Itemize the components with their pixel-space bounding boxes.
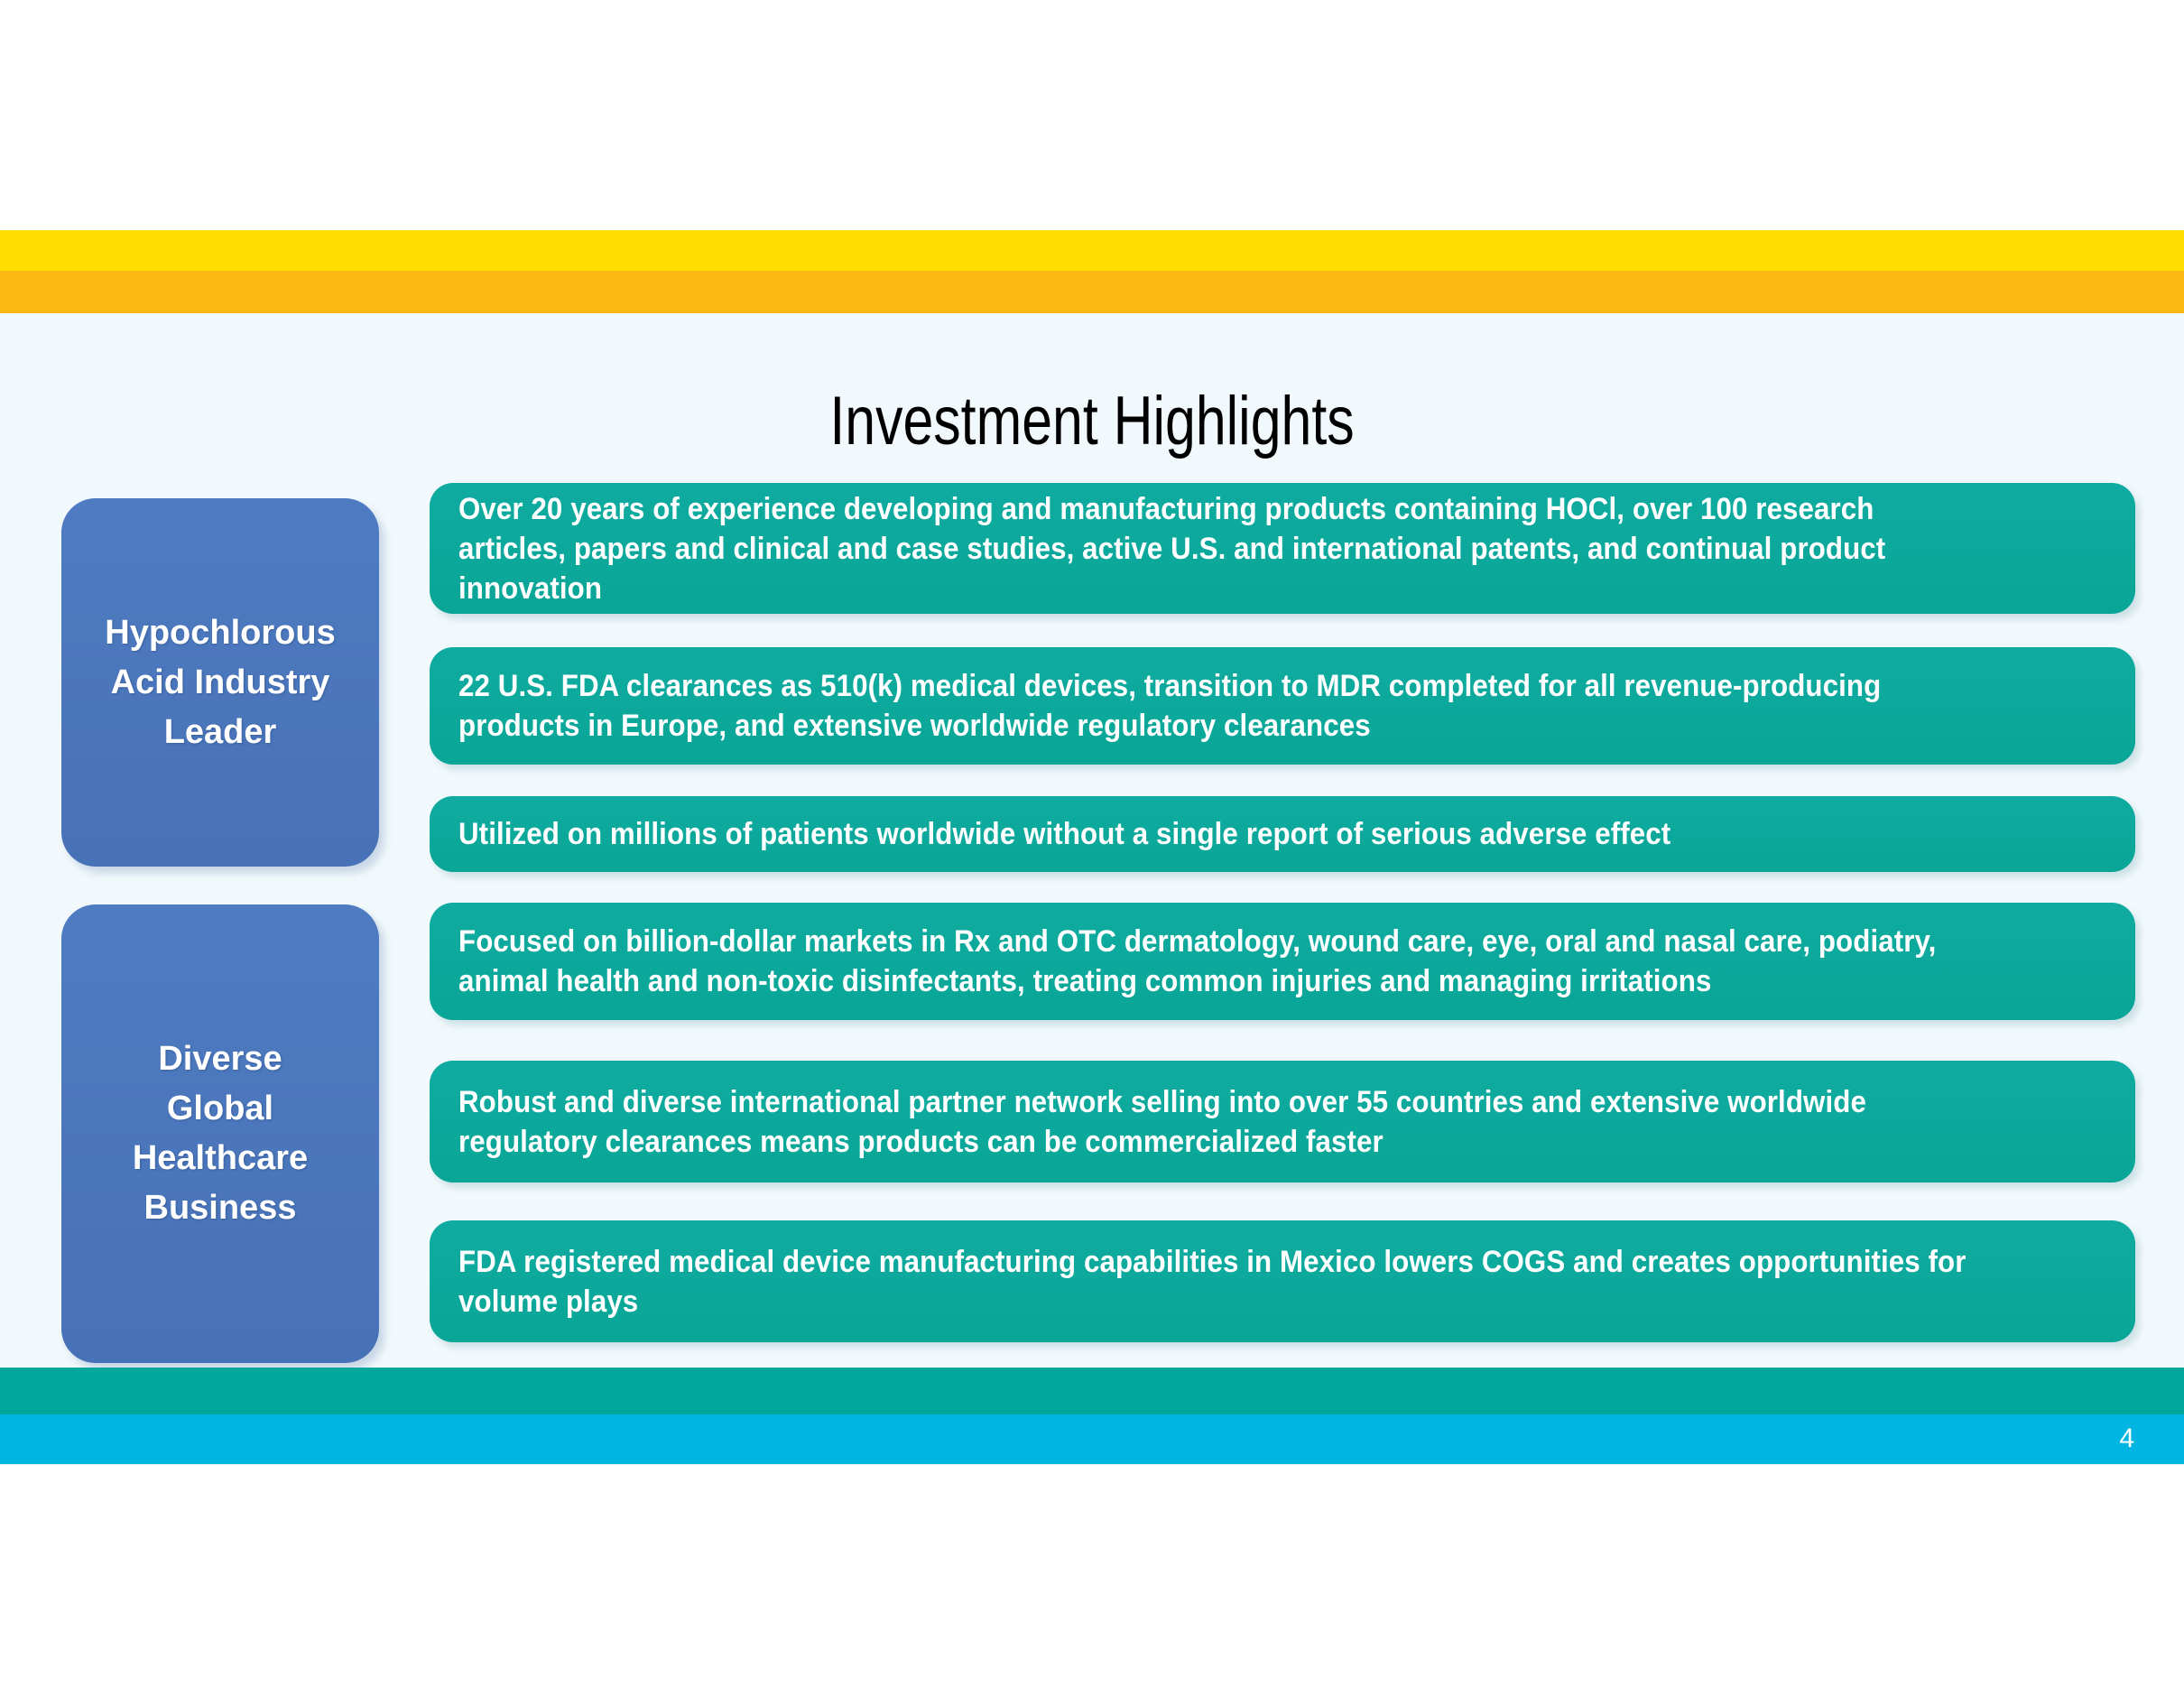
highlight-text: Focused on billion-dollar markets in Rx …: [458, 922, 1975, 1001]
category-box-label: Diverse Global Healthcare Business: [133, 1034, 308, 1233]
highlight-box: Utilized on millions of patients worldwi…: [430, 796, 2135, 872]
category-box-diverse-global-healthcare-business: Diverse Global Healthcare Business: [61, 904, 379, 1363]
highlight-box: FDA registered medical device manufactur…: [430, 1220, 2135, 1342]
highlight-box: Focused on billion-dollar markets in Rx …: [430, 903, 2135, 1020]
page-title: Investment Highlights: [218, 383, 1966, 460]
highlight-text: Robust and diverse international partner…: [458, 1082, 1975, 1162]
category-box-label: Hypochlorous Acid Industry Leader: [105, 608, 335, 757]
highlight-box: Robust and diverse international partner…: [430, 1061, 2135, 1183]
highlight-text: Over 20 years of experience developing a…: [458, 489, 1975, 608]
slide-canvas: Investment Highlights Hypochlorous Acid …: [0, 0, 2184, 1688]
category-box-hypochlorous-acid-industry-leader: Hypochlorous Acid Industry Leader: [61, 498, 379, 867]
bottom-accent-bar-cyan: [0, 1414, 2184, 1464]
highlight-text: Utilized on millions of patients worldwi…: [458, 814, 1975, 854]
top-accent-bar-amber: [0, 271, 2184, 313]
top-accent-bar-yellow: [0, 230, 2184, 271]
page-number: 4: [2119, 1422, 2134, 1456]
highlight-box: 22 U.S. FDA clearances as 510(k) medical…: [430, 647, 2135, 765]
highlight-box: Over 20 years of experience developing a…: [430, 483, 2135, 614]
bottom-accent-bar-teal: [0, 1368, 2184, 1414]
highlight-text: 22 U.S. FDA clearances as 510(k) medical…: [458, 666, 1975, 746]
highlight-text: FDA registered medical device manufactur…: [458, 1242, 1975, 1322]
